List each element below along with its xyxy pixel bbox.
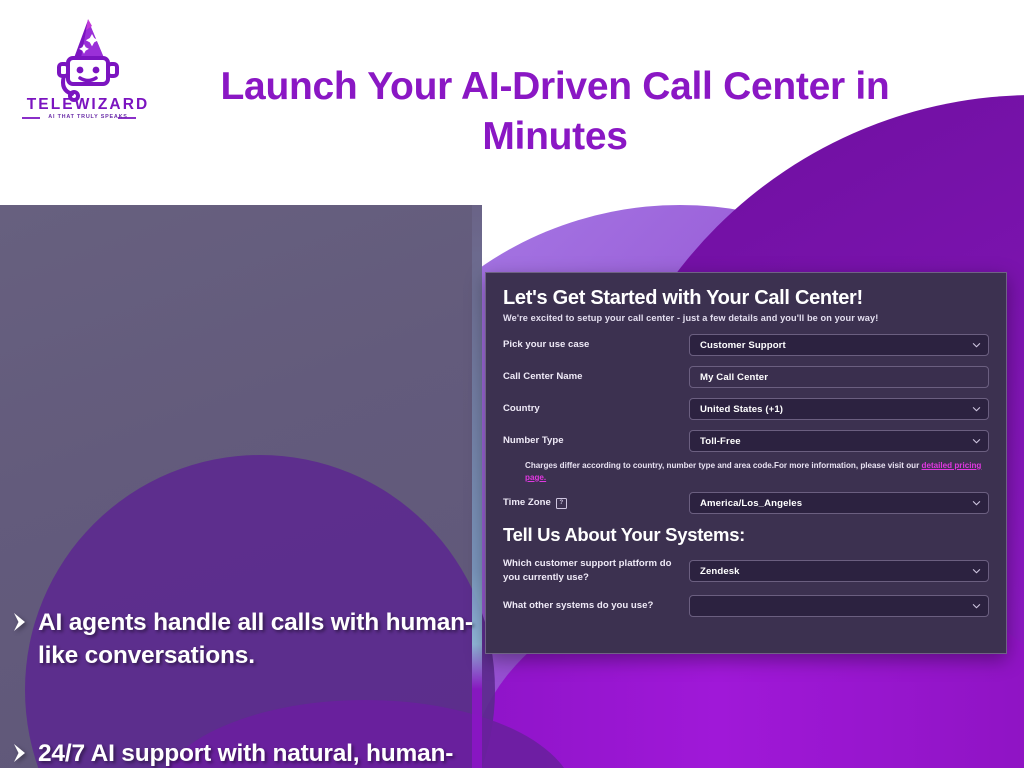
pricing-note-text: Charges differ according to country, num… xyxy=(525,461,922,470)
time-zone-label: Time Zone xyxy=(503,497,551,510)
field-label: Time Zone ? xyxy=(503,497,689,510)
list-item-label: 24/7 AI support with natural, human-like… xyxy=(38,738,478,768)
list-item-label: AI agents handle all calls with human-li… xyxy=(38,607,478,672)
field-label: Pick your use case xyxy=(503,339,689,352)
page-title: Launch Your AI-Driven Call Center in Min… xyxy=(165,62,945,161)
form-title: Let's Get Started with Your Call Center! xyxy=(503,287,989,310)
number-type-select[interactable]: Toll-Free xyxy=(689,430,989,452)
field-label: Call Center Name xyxy=(503,371,689,384)
other-systems-select[interactable] xyxy=(689,595,989,617)
call-center-name-value: My Call Center xyxy=(700,372,768,383)
field-support-platform: Which customer support platform do you c… xyxy=(503,557,989,585)
chevron-right-icon xyxy=(8,607,34,640)
list-item: AI agents handle all calls with human-li… xyxy=(8,607,478,672)
list-item: 24/7 AI support with natural, human-like… xyxy=(8,738,478,768)
field-label: What other systems do you use? xyxy=(503,600,689,613)
call-center-name-input[interactable]: My Call Center xyxy=(689,366,989,388)
number-type-value: Toll-Free xyxy=(700,436,741,447)
country-select[interactable]: United States (+1) xyxy=(689,398,989,420)
time-zone-select[interactable]: America/Los_Angeles xyxy=(689,492,989,514)
panel-edge-accent xyxy=(472,205,482,768)
pricing-note: Charges differ according to country, num… xyxy=(525,460,985,483)
use-case-select[interactable]: Customer Support xyxy=(689,334,989,356)
slide-canvas: TELEWIZARD AI THAT TRULY SPEAKS Launch Y… xyxy=(0,0,1024,768)
header: TELEWIZARD AI THAT TRULY SPEAKS Launch Y… xyxy=(0,0,1024,205)
support-platform-select[interactable]: Zendesk xyxy=(689,560,989,582)
chevron-right-icon xyxy=(8,738,34,768)
brand-wordmark: TELEWIZARD xyxy=(18,96,158,114)
form-subtitle: We're excited to setup your call center … xyxy=(503,313,989,323)
field-country: Country United States (+1) xyxy=(503,398,989,420)
onboarding-form-card: Let's Get Started with Your Call Center!… xyxy=(485,272,1007,654)
field-call-center-name: Call Center Name My Call Center xyxy=(503,366,989,388)
support-platform-value: Zendesk xyxy=(700,566,740,577)
time-zone-value: America/Los_Angeles xyxy=(700,498,802,509)
use-case-value: Customer Support xyxy=(700,340,786,351)
field-time-zone: Time Zone ? America/Los_Angeles xyxy=(503,492,989,514)
field-use-case: Pick your use case Customer Support xyxy=(503,334,989,356)
brand-tagline: AI THAT TRULY SPEAKS xyxy=(18,114,158,120)
info-icon[interactable]: ? xyxy=(556,498,567,509)
systems-section-title: Tell Us About Your Systems: xyxy=(503,524,989,546)
country-value: United States (+1) xyxy=(700,404,783,415)
field-label: Number Type xyxy=(503,435,689,448)
field-label: Country xyxy=(503,403,689,416)
field-other-systems: What other systems do you use? xyxy=(503,595,989,617)
field-label: Which customer support platform do you c… xyxy=(503,557,689,585)
field-number-type: Number Type Toll-Free xyxy=(503,430,989,452)
